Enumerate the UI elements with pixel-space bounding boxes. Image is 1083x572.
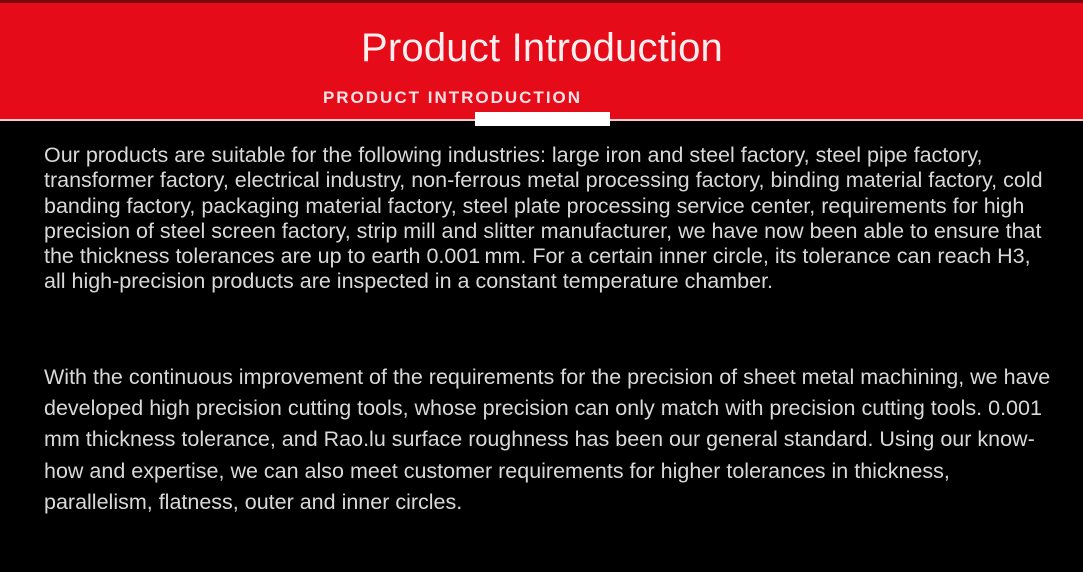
- body-paragraph-1: Our products are suitable for the follow…: [44, 143, 1054, 295]
- page-title: Product Introduction: [0, 25, 1083, 71]
- page-subtitle: PRODUCT INTRODUCTION: [0, 88, 1083, 108]
- body-content: Our products are suitable for the follow…: [0, 121, 1083, 572]
- banner-top-edge: [0, 0, 1083, 3]
- header-banner: Product Introduction PRODUCT INTRODUCTIO…: [0, 0, 1083, 121]
- slide-root: Product Introduction PRODUCT INTRODUCTIO…: [0, 0, 1083, 572]
- body-paragraph-2: With the continuous improvement of the r…: [44, 362, 1054, 518]
